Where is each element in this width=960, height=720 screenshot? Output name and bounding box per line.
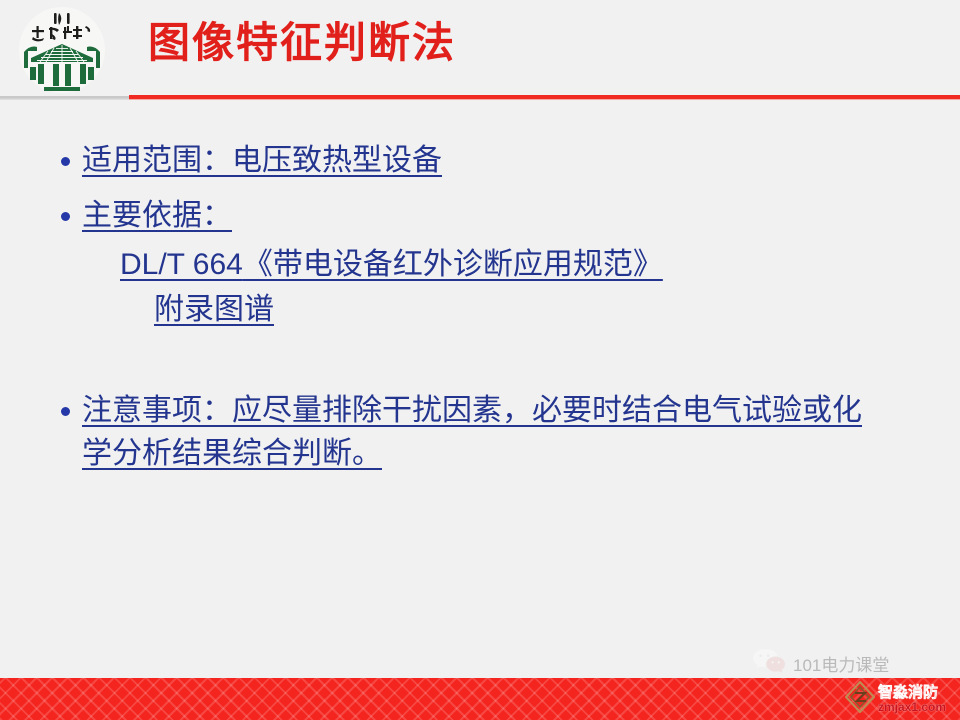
list-item: 适用范围：电压致热型设备 (48, 140, 960, 183)
bullet-text-scope: 适用范围：电压致热型设备 (82, 140, 960, 183)
footer-band (0, 678, 960, 720)
reference-standard-line: DL/T 664《带电设备红外诊断应用规范》 (120, 243, 960, 287)
bullet-text-basis: 主要依据： (82, 195, 960, 238)
bullet-dot-icon (48, 140, 82, 166)
list-item: 主要依据： (48, 195, 960, 238)
watermark-text: 智淼消防 zmjax1.com (878, 685, 946, 713)
bullet-dot-icon (48, 195, 82, 221)
101-dianli-ketang-logo (10, 4, 114, 100)
page-title: 图像特征判断法 (148, 22, 456, 66)
header-divider-red (129, 95, 960, 100)
reference-appendix-line: 附录图谱 (154, 288, 960, 332)
zhimiao-diamond-icon (845, 681, 875, 718)
slide-canvas: 图像特征判断法 适用范围：电压致热型设备 主要依据： DL/T 664《带电设备… (0, 0, 960, 720)
wechat-credit: 101电力课堂 (752, 648, 889, 679)
wechat-icon (752, 648, 786, 679)
note-text: 注意事项：应尽量排除干扰因素，必要时结合电气试验或化学分析结果综合判断。 (82, 390, 960, 475)
watermark-url: zmjax1.com (878, 701, 946, 714)
standard-code: DL/T 664 (120, 248, 243, 281)
slide-header: 图像特征判断法 (0, 0, 960, 104)
wechat-account-label: 101电力课堂 (793, 651, 889, 676)
slide-body: 适用范围：电压致热型设备 主要依据： DL/T 664《带电设备红外诊断应用规范… (0, 140, 960, 475)
note-line-1: 注意事项：应尽量排除干扰因素，必要时结 (82, 394, 652, 427)
watermark-brand: 智淼消防 (878, 685, 946, 701)
bullet-dot-icon (48, 390, 82, 416)
standard-title: 《带电设备红外诊断应用规范》 (243, 248, 663, 281)
watermark: 智淼消防 zmjax1.com (845, 678, 960, 720)
header-divider-grey (0, 96, 129, 100)
list-item: 注意事项：应尽量排除干扰因素，必要时结合电气试验或化学分析结果综合判断。 (48, 390, 960, 475)
reference-block: DL/T 664《带电设备红外诊断应用规范》 附录图谱 (120, 243, 960, 332)
